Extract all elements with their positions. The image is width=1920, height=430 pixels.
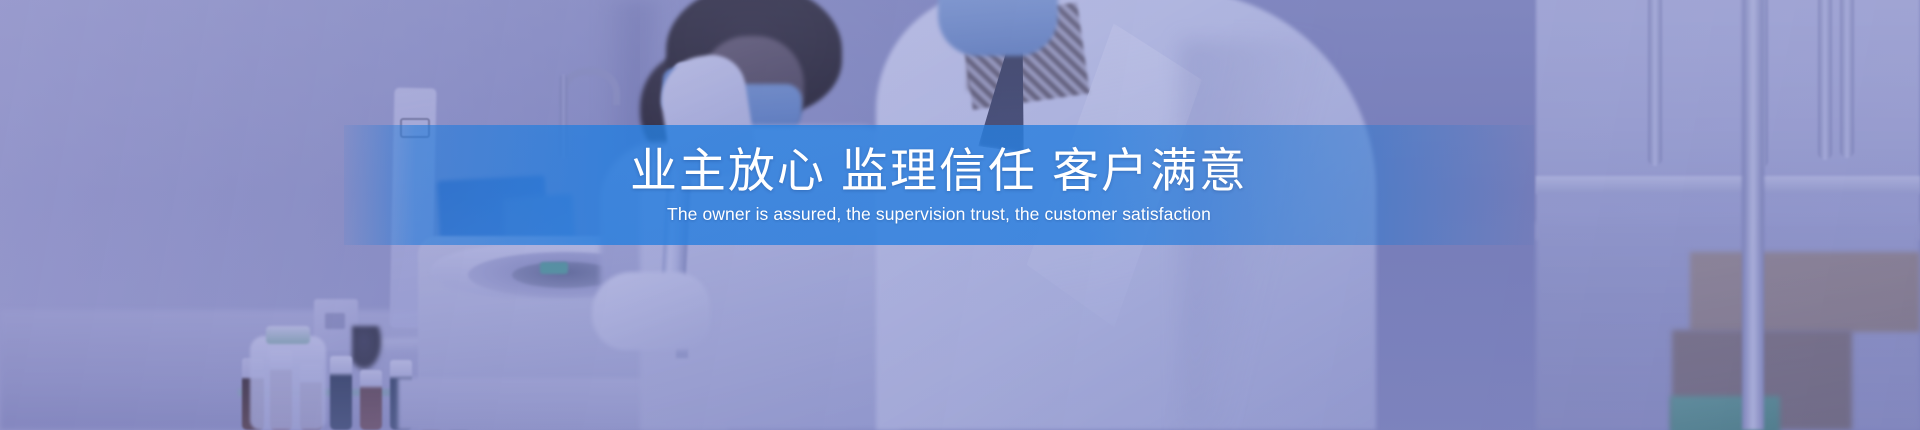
banner-subheadline: The owner is assured, the supervision tr… — [667, 205, 1211, 224]
headline-overlay-content: 业主放心 监理信任 客户满意 The owner is assured, the… — [344, 125, 1534, 245]
headline-overlay-band: 业主放心 监理信任 客户满意 The owner is assured, the… — [344, 125, 1534, 245]
hero-banner: 业主放心 监理信任 客户满意 The owner is assured, the… — [0, 0, 1920, 430]
banner-headline: 业主放心 监理信任 客户满意 — [630, 146, 1248, 195]
